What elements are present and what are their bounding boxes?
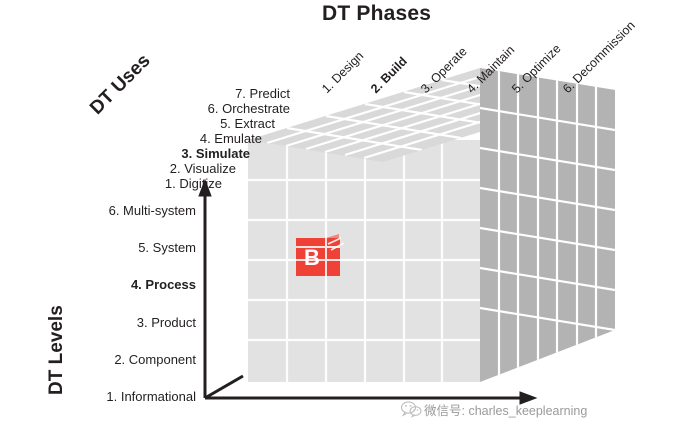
highlighted-cell-build-process[interactable]: B (296, 234, 344, 276)
use-label-3: 3. Simulate (181, 146, 250, 161)
use-label-2: 2. Visualize (170, 161, 236, 176)
use-label-7: 7. Predict (235, 86, 290, 101)
level-label-6: 6. Multi-system (109, 203, 196, 218)
use-label-1: 1. Digitize (165, 176, 222, 191)
use-label-5: 5. Extract (220, 116, 275, 131)
level-label-5: 5. System (138, 240, 196, 255)
page-title-dt-phases: DT Phases (322, 2, 431, 26)
level-label-2: 2. Component (114, 352, 196, 367)
cube-front-face (248, 140, 480, 382)
level-label-1: 1. Informational (106, 389, 196, 404)
watermark-text: 微信号: charles_keeplearning (424, 400, 587, 419)
cube-side-face (480, 68, 615, 382)
wechat-icon (400, 400, 422, 418)
page-title-dt-levels: DT Levels (46, 305, 68, 395)
diagram-canvas: B DT Phases DT Uses DT Levels 1. Design … (0, 0, 680, 445)
level-label-4: 4. Process (131, 277, 196, 292)
level-label-3: 3. Product (137, 315, 196, 330)
use-label-6: 6. Orchestrate (208, 101, 290, 116)
highlight-letter: B (304, 245, 320, 270)
use-label-4: 4. Emulate (200, 131, 262, 146)
